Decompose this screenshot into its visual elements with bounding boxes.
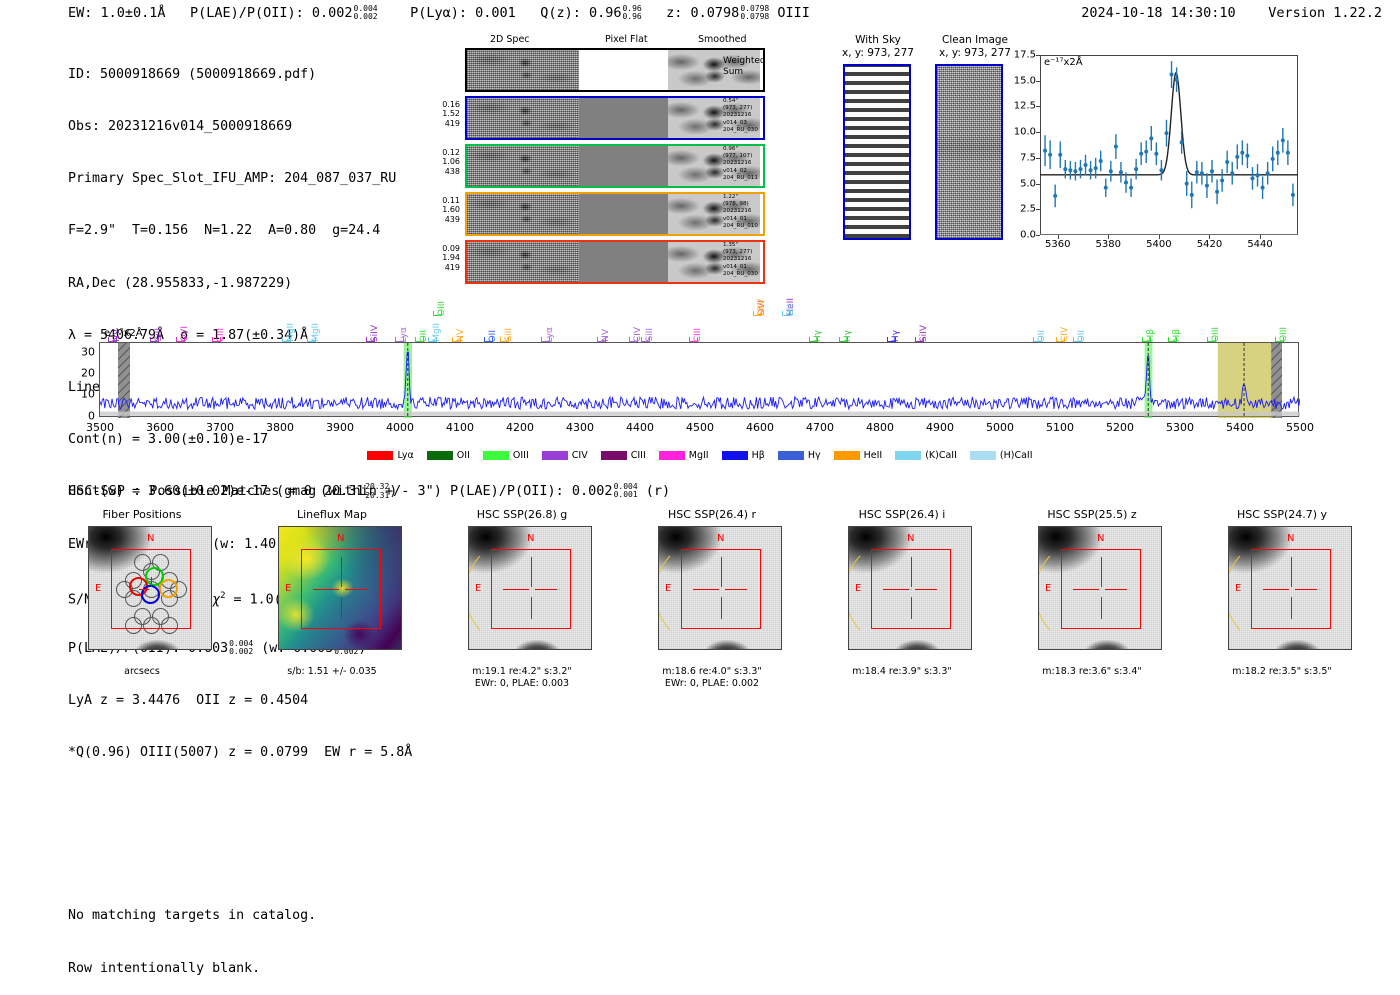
with-sky-image — [845, 66, 909, 238]
spec2d-row-meta: 0.54" (973, 277) 20231216 v014_03 204_RU… — [723, 98, 793, 134]
legend-label: Lyα — [397, 450, 413, 461]
crosshair-arm — [1263, 589, 1285, 590]
header-qz-label: Q(z): — [540, 5, 581, 21]
spec2d-row — [465, 192, 765, 236]
header-ew: EW: 1.0±0.1Å — [68, 5, 166, 21]
emission-line-fit-plot: e⁻¹⁷x2Å 0.02.55.07.510.012.515.017.5 536… — [1040, 55, 1298, 235]
panel-caption: m:18.6 re:4.0" s:3.3"EWr: 0, PLAE: 0.002 — [630, 666, 794, 690]
full-spectrum-section: NVSiIIOVICIIIMgIIMgIISiIVOIIILyαOIIMgIIN… — [0, 272, 1400, 472]
header-z-value: 0.0798 — [691, 5, 740, 21]
spectrum-x-tick: 4500 — [686, 421, 714, 434]
panel-title: HSC SSP(26.4) i — [820, 508, 984, 522]
spectrum-y-tick: 10 — [81, 388, 95, 401]
compass-east-label: E — [855, 583, 861, 594]
linefit-x-tick: 5440 — [1247, 239, 1272, 250]
spectrum-x-tick: 3800 — [266, 421, 294, 434]
legend-swatch — [542, 451, 568, 460]
panel-caption-line1: m:19.1 re:4.2" s:3.2" — [440, 666, 604, 678]
with-sky-cutout — [843, 64, 911, 240]
spectrum-x-tick: 5300 — [1166, 421, 1194, 434]
crosshair-arm — [721, 557, 722, 579]
compass-east-label: E — [285, 583, 291, 594]
linefit-x-tickmark — [1260, 235, 1261, 239]
crosshair-arm — [341, 557, 342, 579]
linefit-x-tickmark — [1209, 235, 1210, 239]
linefit-y-tick: 0.0 — [1020, 230, 1036, 241]
full-spectrum-axes: e⁻¹⁷x2Å 0102030 350036003700380039004000… — [99, 342, 1299, 417]
spectrum-x-tick: 5400 — [1226, 421, 1254, 434]
crosshair-arm — [1101, 597, 1102, 619]
linefit-y-tickmark — [1036, 132, 1040, 133]
legend-label: CIII — [631, 450, 646, 461]
linefit-y-tick: 2.5 — [1020, 204, 1036, 215]
panel-image[interactable]: NE4-42-200-22-44 — [278, 526, 402, 650]
panel-caption: m:18.2 re:3.5" s:3.5" — [1200, 666, 1364, 678]
timestamp: 2024-10-18 14:30:10 — [1081, 5, 1235, 21]
crosshair-arm — [1105, 589, 1127, 590]
legend-item: Hβ — [722, 450, 765, 461]
spec2d-row-weighted-sum — [465, 48, 765, 92]
cutout-panel-row: Fiber PositionsNE4-42-200-22-44arcsecsLi… — [60, 508, 1390, 723]
linefit-x-tick: 5400 — [1146, 239, 1171, 250]
legend-label: CIV — [572, 450, 588, 461]
crosshair-arm — [341, 597, 342, 619]
linefit-x-tick: 5380 — [1096, 239, 1121, 250]
crosshair-arm — [531, 557, 532, 579]
legend-label: (H)CaII — [1000, 450, 1033, 461]
legend-swatch — [834, 451, 860, 460]
legend-label: OIII — [513, 450, 529, 461]
cutout-panel-image-5[interactable]: HSC SSP(25.5) zNE4-42-200-22-44m:18.3 re… — [1010, 508, 1174, 678]
header-qz-value: 0.96 — [589, 5, 622, 21]
panel-caption-line1: m:18.6 re:4.0" s:3.3" — [630, 666, 794, 678]
compass-east-label: E — [665, 583, 671, 594]
spec2d-row — [465, 96, 765, 140]
header-z-line: OIII — [777, 5, 810, 21]
linefit-x-tick: 5360 — [1045, 239, 1070, 250]
panel-image[interactable]: NE4-42-200-22-44 — [658, 526, 782, 650]
spec2d-row-meta: 0.96" (977, 107) 20231216 v014_02 204_RU… — [723, 146, 793, 182]
header-qz-range: 0.960.96 — [622, 5, 641, 21]
compass-east-label: E — [1235, 583, 1241, 594]
spectrum-x-tick: 4400 — [626, 421, 654, 434]
linefit-y-tick: 7.5 — [1020, 152, 1036, 163]
spectrum-x-tick: 4300 — [566, 421, 594, 434]
weighted-sum-label: Weighted Sum — [723, 56, 766, 78]
linefit-x-tickmark — [1159, 235, 1160, 239]
linefit-x-tickmark — [1108, 235, 1109, 239]
panel-caption-line1: m:18.3 re:3.6" s:3.4" — [1010, 666, 1174, 678]
spectral-line-bracket — [753, 311, 762, 316]
legend-label: Hγ — [808, 450, 821, 461]
header-z-range: 0.07980.0798 — [740, 5, 769, 21]
spectrum-x-tick: 4900 — [926, 421, 954, 434]
panel-title: HSC SSP(26.4) r — [630, 508, 794, 522]
header-timestamp-version: 2024-10-18 14:30:10 Version 1.22.2 — [1081, 5, 1382, 21]
panel-image[interactable]: NE4-42-200-22-44 — [1038, 526, 1162, 650]
spectrum-x-tick: 5000 — [986, 421, 1014, 434]
spec2d-row-meta: 1.22" (978, 98) 20231216 v014_01 204_RU_… — [723, 194, 793, 230]
crosshair-arm — [531, 597, 532, 619]
panel-caption: s/b: 1.51 +/- 0.035 — [250, 666, 414, 678]
crosshair-vertical — [151, 577, 152, 587]
info-seeing: F=2.9" T=0.156 N=1.22 A=0.80 g=24.4 — [68, 222, 412, 239]
crosshair-arm — [911, 557, 912, 579]
aperture-box — [111, 549, 191, 629]
legend-item: HeII — [834, 450, 883, 461]
crosshair-arm — [503, 589, 525, 590]
panel-caption: arcsecs — [60, 666, 224, 678]
legend-swatch — [970, 451, 996, 460]
panel-caption: m:18.3 re:3.6" s:3.4" — [1010, 666, 1174, 678]
col-title-smoothed: Smoothed — [698, 34, 747, 45]
info-obs: Obs: 20231216v014_5000918669 — [68, 118, 412, 135]
crosshair-arm — [911, 597, 912, 619]
crosshair-arm — [1291, 597, 1292, 619]
panel-image[interactable]: NE4-42-200-22-44 — [848, 526, 972, 650]
spectrum-x-tick: 4200 — [506, 421, 534, 434]
spectral-line-bracket — [433, 311, 442, 316]
compass-north-label: N — [337, 533, 344, 544]
legend-item: OII — [427, 450, 470, 461]
panel-caption-line2: EWr: 0, PLAE: 0.003 — [440, 678, 604, 690]
spectrum-x-tick: 4600 — [746, 421, 774, 434]
spectrum-x-tick: 3700 — [206, 421, 234, 434]
info-id: ID: 5000918669 (5000918669.pdf) — [68, 66, 412, 83]
info-primary-spec: Primary Spec_Slot_IFU_AMP: 204_087_037_R… — [68, 170, 412, 187]
spec2d-row-labels: 0.091.94419 — [418, 244, 460, 272]
header-z-label: z: — [666, 5, 682, 21]
cutout-panel-image-3[interactable]: HSC SSP(26.4) rNE4-42-200-22-44m:18.6 re… — [630, 508, 794, 690]
header-plya: P(Lyα): 0.001 — [410, 5, 516, 21]
legend-item: CIV — [542, 450, 588, 461]
compass-east-label: E — [95, 583, 101, 594]
legend-swatch — [427, 451, 453, 460]
panel-image[interactable]: NE4-42-200-22-44 — [1228, 526, 1352, 650]
crosshair-arm — [1291, 557, 1292, 579]
spec2d-row-labels: 0.161.52419 — [418, 100, 460, 128]
spectrum-y-tick: 20 — [81, 367, 95, 380]
linefit-y-tickmark — [1036, 209, 1040, 210]
spectrum-x-tick: 4800 — [866, 421, 894, 434]
with-sky-title: With Skyx, y: 973, 277 — [828, 34, 928, 60]
crosshair-arm — [313, 589, 335, 590]
spectrum-x-tick: 4700 — [806, 421, 834, 434]
footer-line-2: Row intentionally blank. — [68, 960, 316, 978]
panel-title: HSC SSP(25.5) z — [1010, 508, 1174, 522]
crosshair-arm — [693, 589, 715, 590]
spectrum-x-tick: 5500 — [1286, 421, 1314, 434]
linefit-y-tick: 15.0 — [1014, 75, 1036, 86]
linefit-x-tickmark — [1058, 235, 1059, 239]
col-title-pixelflat: Pixel Flat — [605, 34, 648, 45]
linefit-y-tickmark — [1036, 235, 1040, 236]
linefit-x-tick: 5420 — [1197, 239, 1222, 250]
spectral-line-labels: NVSiIIOVICIIIMgIIMgIISiIVOIIILyαOIIMgIIN… — [0, 272, 1400, 342]
hsc-header-filter: (r) — [646, 483, 670, 499]
col-title-2dspec: 2D Spec — [490, 34, 530, 45]
linefit-y-tick: 12.5 — [1014, 101, 1036, 112]
legend-item: CIII — [601, 450, 646, 461]
cutout-panel-image-2[interactable]: HSC SSP(26.8) gNE4-42-200-22-44m:19.1 re… — [440, 508, 604, 690]
cutout-panel-image-4[interactable]: HSC SSP(26.4) iNE4-42-200-22-44m:18.4 re… — [820, 508, 984, 678]
clean-image-cutout — [935, 64, 1003, 240]
legend-item: OIII — [483, 450, 529, 461]
legend-swatch — [778, 451, 804, 460]
crosshair-arm — [345, 589, 367, 590]
compass-north-label: N — [717, 533, 724, 544]
spec2d-panel-group: 2D Spec Pixel Flat Smoothed Weighted Sum… — [420, 34, 790, 249]
cutout-panel-lineflux-1[interactable]: Lineflux MapNE4-42-200-22-44s/b: 1.51 +/… — [250, 508, 414, 678]
footer-line-1: No matching targets in catalog. — [68, 907, 316, 925]
spectrum-x-tick: 5200 — [1106, 421, 1134, 434]
panel-title: Fiber Positions — [60, 508, 224, 522]
panel-image[interactable]: NE4-42-200-22-44 — [468, 526, 592, 650]
header-plae-value: 0.002 — [312, 5, 353, 21]
panel-caption: m:19.1 re:4.2" s:3.2"EWr: 0, PLAE: 0.003 — [440, 666, 604, 690]
legend-swatch — [895, 451, 921, 460]
compass-north-label: N — [147, 533, 154, 544]
legend-label: MgII — [689, 450, 709, 461]
spectrum-x-tick: 5100 — [1046, 421, 1074, 434]
header-summary: EW: 1.0±0.1Å P(LAE)/P(OII): 0.0020.0040.… — [68, 5, 810, 21]
legend-label: (K)CaII — [925, 450, 957, 461]
spec2d-row — [465, 144, 765, 188]
spectrum-x-tick: 3600 — [146, 421, 174, 434]
panel-title: HSC SSP(24.7) y — [1200, 508, 1364, 522]
panel-title: HSC SSP(26.8) g — [440, 508, 604, 522]
spectrum-x-tick: 4000 — [386, 421, 414, 434]
header-plae-range: 0.0040.002 — [354, 5, 378, 21]
legend-item: (K)CaII — [895, 450, 957, 461]
panel-caption-line1: m:18.2 re:3.5" s:3.5" — [1200, 666, 1364, 678]
spectrum-unit-label: e⁻¹⁷x2Å — [104, 328, 143, 339]
linefit-y-tickmark — [1036, 81, 1040, 82]
crosshair-arm — [915, 589, 937, 590]
compass-north-label: N — [527, 533, 534, 544]
linefit-y-tick: 10.0 — [1014, 127, 1036, 138]
spectrum-canvas — [100, 343, 1300, 418]
info-best-solution: *Q(0.96) OIII(5007) z = 0.0799 EW r = 5.… — [68, 744, 412, 761]
crosshair-arm — [721, 597, 722, 619]
panel-caption-line1: m:18.4 re:3.9" s:3.3" — [820, 666, 984, 678]
linefit-y-tick: 5.0 — [1020, 178, 1036, 189]
spectrum-x-tick: 3500 — [86, 421, 114, 434]
linefit-canvas — [1040, 55, 1298, 235]
spectrum-y-tick: 30 — [81, 345, 95, 358]
hsc-header-text: HSC-SSP : Possible Matches = 0 (within +… — [68, 483, 613, 499]
header-row: EW: 1.0±0.1Å P(LAE)/P(OII): 0.0020.0040.… — [0, 5, 1400, 27]
version-label: Version 1.22.2 — [1268, 5, 1382, 21]
legend-label: Hβ — [752, 450, 765, 461]
compass-north-label: N — [1287, 533, 1294, 544]
clean-image — [937, 66, 1001, 238]
legend-swatch — [601, 451, 627, 460]
spectrum-x-tick: 3900 — [326, 421, 354, 434]
cutout-panel-fiber-0[interactable]: Fiber PositionsNE4-42-200-22-44arcsecs — [60, 508, 224, 678]
linefit-y-tickmark — [1036, 55, 1040, 56]
legend-item: MgII — [659, 450, 709, 461]
legend-item: Lyα — [367, 450, 413, 461]
header-plae-label: P(LAE)/P(OII): — [190, 5, 304, 21]
crosshair-arm — [883, 589, 905, 590]
crosshair-arm — [1073, 589, 1095, 590]
hsc-ssp-header: HSC-SSP : Possible Matches = 0 (within +… — [68, 483, 670, 499]
crosshair-arm — [1101, 557, 1102, 579]
linefit-y-tick: 17.5 — [1014, 50, 1036, 61]
panel-image[interactable]: NE4-42-200-22-44 — [88, 526, 212, 650]
crosshair-horizontal — [139, 589, 149, 590]
legend-swatch — [722, 451, 748, 460]
crosshair-arm — [725, 589, 747, 590]
compass-north-label: N — [1097, 533, 1104, 544]
spec2d-row-labels: 0.121.06438 — [418, 148, 460, 176]
spec2d-row-labels: 0.111.60439 — [418, 196, 460, 224]
legend-swatch — [367, 451, 393, 460]
linefit-y-tickmark — [1036, 158, 1040, 159]
legend-item: Hγ — [778, 450, 821, 461]
legend-label: HeII — [864, 450, 883, 461]
spectral-line-bracket — [782, 311, 791, 316]
compass-east-label: E — [475, 583, 481, 594]
spectral-lines-legend: LyαOIIOIIICIVCIIIMgIIHβHγHeII(K)CaII(H)C… — [0, 450, 1400, 461]
compass-east-label: E — [1045, 583, 1051, 594]
cutout-panel-image-6[interactable]: HSC SSP(24.7) yNE4-42-200-22-44m:18.2 re… — [1200, 508, 1364, 678]
hsc-header-range: 0.0040.001 — [614, 483, 638, 499]
panel-caption: m:18.4 re:3.9" s:3.3" — [820, 666, 984, 678]
linefit-y-tickmark — [1036, 184, 1040, 185]
legend-item: (H)CaII — [970, 450, 1033, 461]
footer-note: No matching targets in catalog. Row inte… — [68, 872, 316, 995]
linefit-y-tickmark — [1036, 106, 1040, 107]
panel-title: Lineflux Map — [250, 508, 414, 522]
panel-caption-line1: s/b: 1.51 +/- 0.035 — [250, 666, 414, 678]
spectrum-x-tick: 4100 — [446, 421, 474, 434]
compass-north-label: N — [907, 533, 914, 544]
panel-caption-line1: arcsecs — [60, 666, 224, 678]
crosshair-arm — [1295, 589, 1317, 590]
panel-caption-line2: EWr: 0, PLAE: 0.002 — [630, 678, 794, 690]
crosshair-arm — [535, 589, 557, 590]
legend-swatch — [483, 451, 509, 460]
legend-swatch — [659, 451, 685, 460]
legend-label: OII — [457, 450, 470, 461]
